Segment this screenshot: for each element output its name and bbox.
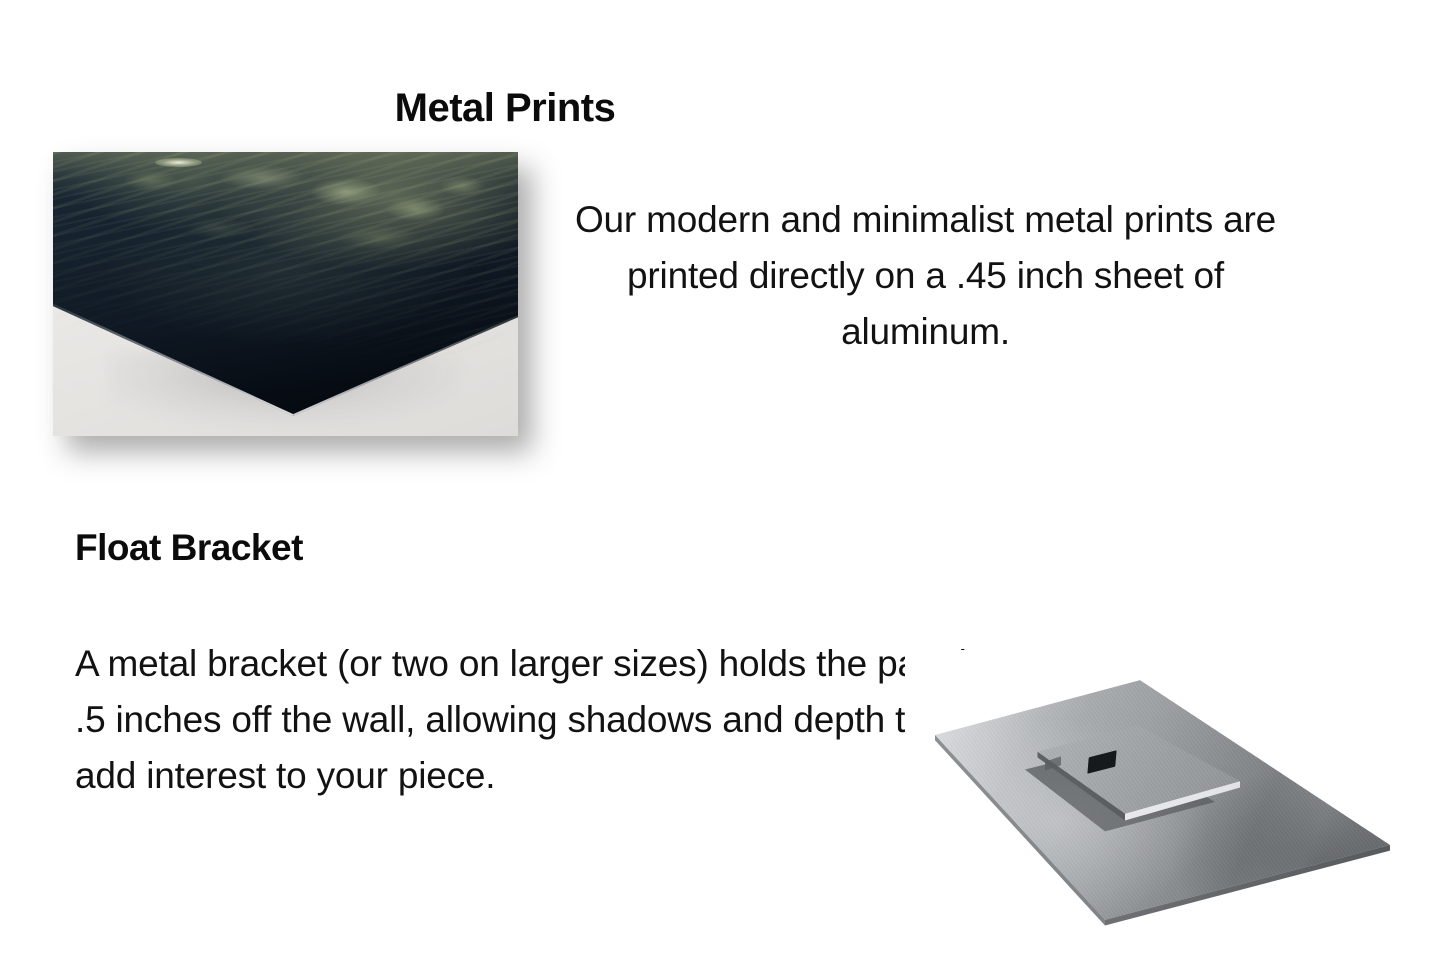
float-bracket-title: Float Bracket bbox=[75, 529, 303, 566]
float-bracket-description: A metal bracket (or two on larger sizes)… bbox=[75, 636, 975, 804]
horizon-glow bbox=[53, 152, 518, 197]
metal-print-corner-photo bbox=[53, 152, 518, 436]
metal-prints-title: Metal Prints bbox=[0, 88, 1220, 128]
metal-prints-description: Our modern and minimalist metal prints a… bbox=[538, 192, 1313, 360]
slide-canvas: Metal Prints Our modern and minimalist m… bbox=[0, 0, 1430, 953]
float-bracket-stage bbox=[905, 650, 1405, 945]
horizon-highlight bbox=[155, 158, 202, 167]
float-bracket-photo bbox=[905, 650, 1405, 945]
